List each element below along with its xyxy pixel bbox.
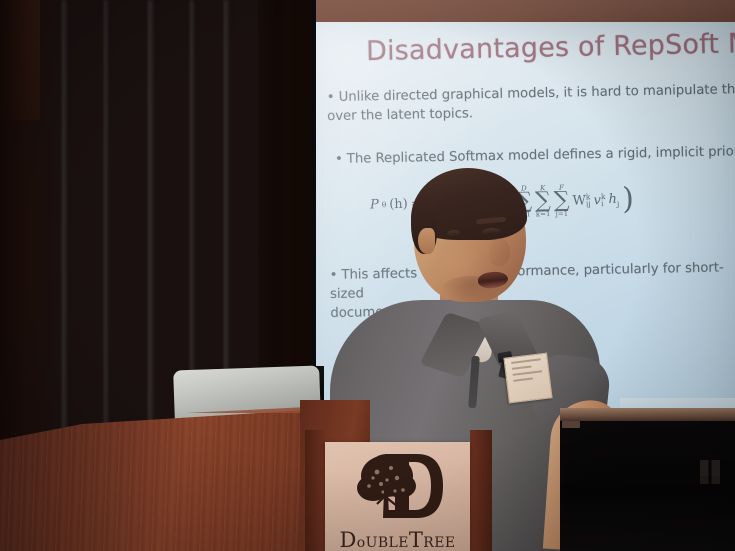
speaker-nose — [489, 238, 510, 266]
formula-term-h-sub: j — [617, 199, 620, 208]
badge-text-line — [512, 365, 532, 369]
formula-lhs: P — [370, 197, 379, 212]
sign-brand-d: D — [340, 528, 357, 551]
badge-text-line — [512, 370, 542, 376]
counter-detail — [700, 474, 720, 484]
bullet-marker-3: • — [330, 268, 338, 283]
formula-term-v-sub: i — [601, 200, 606, 208]
bullet-marker-2: • — [335, 152, 343, 167]
name-badge — [503, 352, 552, 403]
formula-lhs-sub: θ — [382, 200, 387, 209]
formula-term-W-sub: ij — [586, 201, 591, 209]
formula-term-h: hj — [608, 192, 619, 209]
formula-sum-2-glyph: ∑ — [535, 192, 551, 211]
formula-sum-2: K ∑ k=1 — [535, 185, 551, 218]
slide-bullet-2-text: The Replicated Softmax model defines a r… — [347, 144, 735, 167]
formula-sum-3-glyph: ∑ — [554, 192, 570, 211]
sign-brand-ree: REE — [423, 535, 455, 551]
formula-term-W-base: W — [572, 193, 586, 208]
formula-paren-close: ) — [622, 188, 634, 212]
podium-sign-frame-left — [305, 430, 325, 551]
tree-and-d-icon — [325, 446, 470, 524]
podium-sign-text: DoUBLETREE — [325, 528, 470, 551]
formula-term-v: vki — [593, 193, 605, 208]
formula-lhs-arg: (h) — [389, 197, 408, 212]
badge-text-line — [511, 358, 541, 364]
sign-brand-t: T — [409, 528, 423, 551]
slide-bullet-1-text-line2: over the latent topics. — [327, 106, 473, 124]
formula-sum-3: F ∑ j=1 — [553, 185, 569, 218]
podium-sign-frame-right — [470, 430, 492, 551]
photograph-scene: Disadvantages of RepSoft Model •Unlike d… — [0, 0, 735, 551]
sign-brand-ouble: oUBLE — [357, 535, 409, 551]
counter-latch — [562, 421, 580, 428]
formula-sum-2-lower: k=1 — [536, 211, 551, 218]
slide-bullet-2: •The Replicated Softmax model defines a … — [335, 142, 735, 169]
slide-bullet-1-text: Unlike directed graphical models, it is … — [338, 82, 735, 105]
doubletree-logo — [325, 446, 470, 524]
slide-title: Disadvantages of RepSoft Model — [366, 28, 735, 67]
formula-term-h-base: h — [608, 192, 617, 207]
formula-term-W: Wkij — [572, 193, 590, 208]
formula-sum-3-lower: j=1 — [556, 210, 569, 217]
badge-text-line — [513, 377, 533, 381]
counter-top-edge — [560, 408, 735, 421]
bullet-marker-1: • — [327, 90, 335, 105]
speaker-ear — [418, 228, 435, 254]
podium-sign: DoUBLETREE — [325, 442, 470, 551]
slide-bullet-3-text: This affects — [341, 266, 417, 282]
counter-body — [560, 421, 735, 551]
slide-bullet-1: •Unlike directed graphical models, it is… — [327, 80, 735, 126]
